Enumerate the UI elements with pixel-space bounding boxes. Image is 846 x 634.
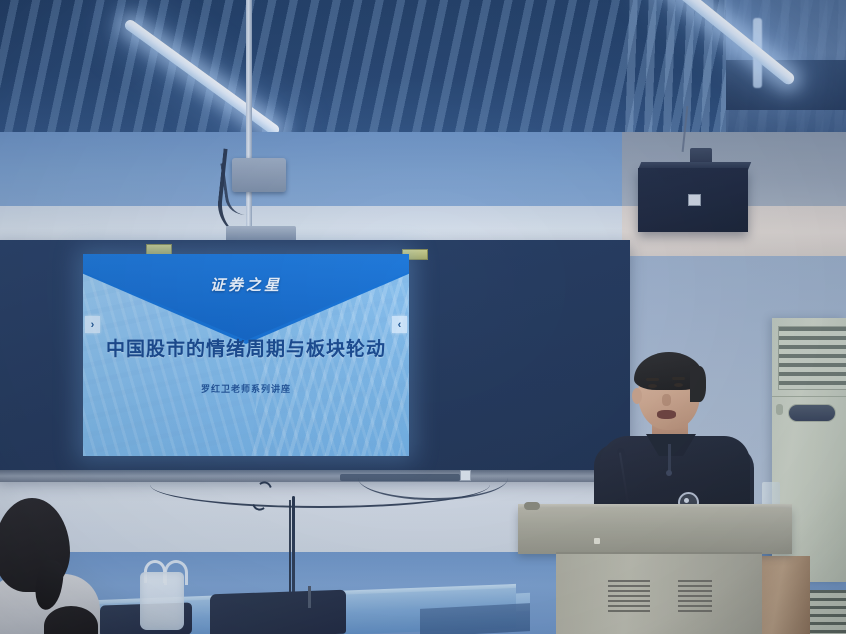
speaker-badge-label xyxy=(688,194,701,206)
slide-title: 中国股市的情绪周期与板块轮动 xyxy=(83,334,409,361)
air-conditioner-louvers xyxy=(778,326,846,390)
ceiling-dark-strip xyxy=(726,60,846,110)
podium-marker xyxy=(594,538,600,544)
ceiling xyxy=(0,0,846,132)
presenter-eyebrow-right xyxy=(672,377,685,380)
air-conditioner-seam xyxy=(772,396,846,397)
slide-subtitle: 罗红卫老师系列讲座 xyxy=(83,382,409,395)
slide-prev-arrow-icon[interactable]: › xyxy=(85,316,100,333)
chair-support-pole xyxy=(308,586,311,608)
presenter-eye-right xyxy=(674,383,683,387)
presenter-eye-left xyxy=(648,384,657,388)
podium-seam xyxy=(556,552,762,554)
air-conditioner-knob[interactable] xyxy=(776,404,783,415)
lecture-hall-photo: 证券之星 中国股市的情绪周期与板块轮动 罗红卫老师系列讲座 › ‹ xyxy=(0,0,846,634)
projector-body xyxy=(232,158,286,192)
presenter-placket xyxy=(668,444,671,472)
presenter-hair-side xyxy=(690,366,706,402)
wall-cable-drop xyxy=(292,496,295,606)
slide-next-arrow-icon[interactable]: ‹ xyxy=(392,316,407,333)
plastic-bag xyxy=(140,572,184,630)
podium-corner-fitting xyxy=(524,502,540,510)
presenter-eyebrow-left xyxy=(646,378,659,381)
presenter-mouth xyxy=(657,410,676,419)
podium-body xyxy=(556,552,762,634)
air-conditioner-display-panel[interactable] xyxy=(788,404,836,422)
chair-back-1 xyxy=(210,590,346,634)
podium-vent-right xyxy=(678,580,712,614)
podium-vent-left xyxy=(608,580,650,614)
projected-slide: 证券之星 中国股市的情绪周期与板块轮动 罗红卫老师系列讲座 › ‹ xyxy=(83,254,409,456)
slide-brand-logo: 证券之星 xyxy=(83,274,409,295)
presenter-ear xyxy=(632,388,642,404)
presenter-nose xyxy=(662,394,671,406)
podium-top xyxy=(518,508,792,554)
desk-shadow-strip xyxy=(420,603,530,634)
presenter-shirt-button xyxy=(666,470,672,476)
